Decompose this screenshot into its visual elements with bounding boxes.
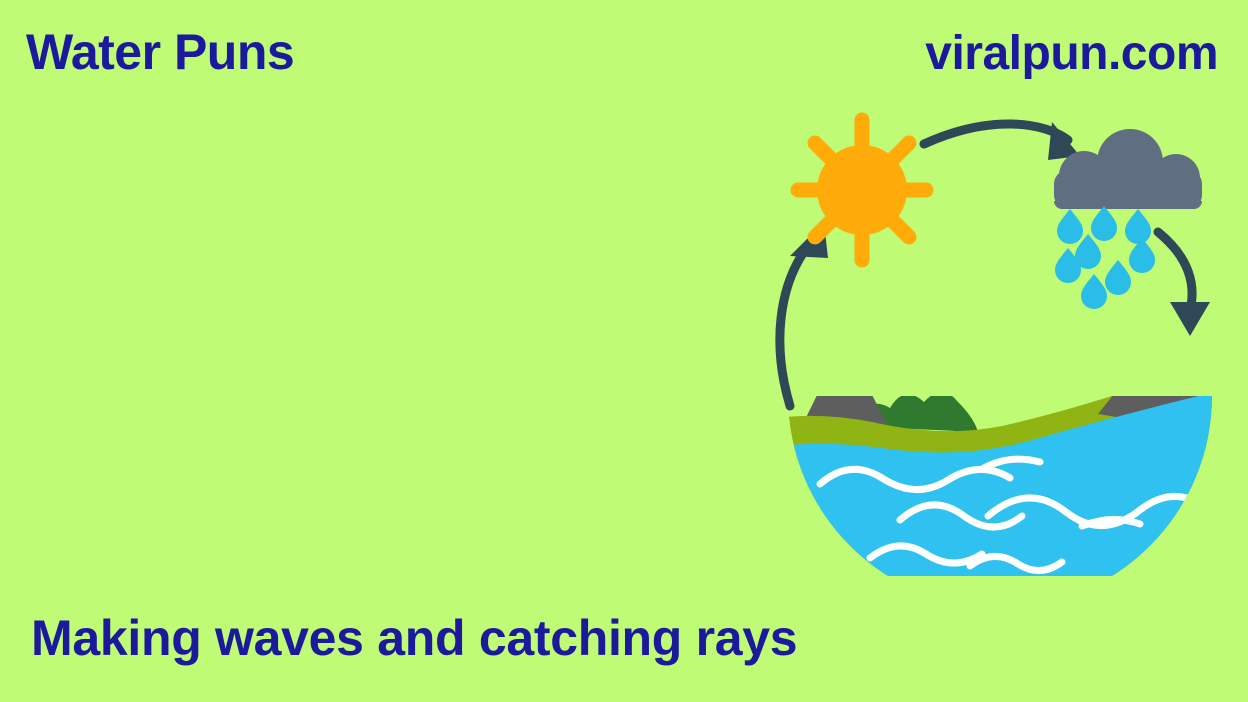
sun-disc — [817, 145, 907, 235]
raindrops — [1055, 206, 1155, 309]
page-title: Water Puns — [26, 24, 294, 82]
condensation-arrow — [924, 122, 1080, 160]
site-brand: viralpun.com — [925, 26, 1218, 81]
evaporation-arrow — [780, 222, 828, 406]
poster-canvas: Water Puns viralpun.com — [0, 0, 1248, 702]
pun-caption: Making waves and catching rays — [31, 608, 797, 668]
rain-cloud — [1054, 129, 1202, 209]
precipitation-arrow — [1158, 232, 1210, 336]
landscape — [752, 324, 1248, 576]
header: Water Puns viralpun.com — [0, 0, 1248, 110]
sun — [798, 120, 926, 260]
water-cycle-illustration — [752, 96, 1248, 576]
